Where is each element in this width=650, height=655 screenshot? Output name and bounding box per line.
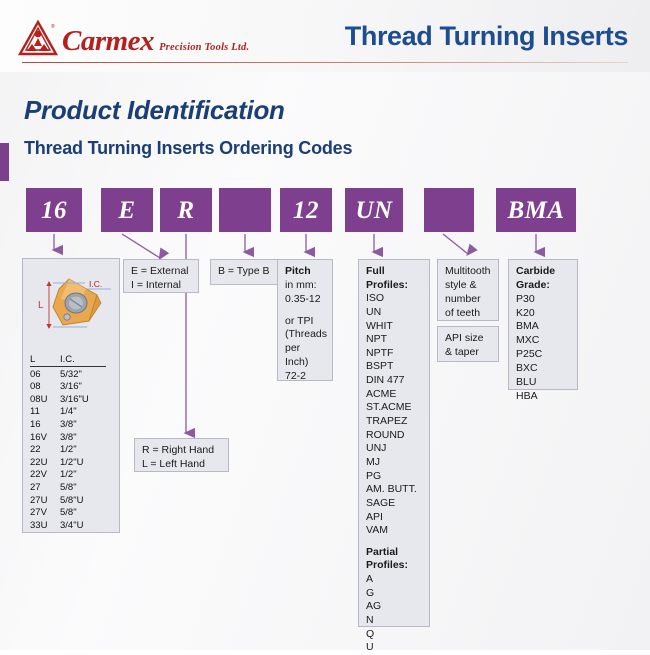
col-header-ic: I.C. [60,355,106,367]
header-divider [22,62,628,63]
cell-ic: 5/8" [60,508,112,518]
grade-item: HBA [516,390,570,404]
profile-item: NPT [366,333,422,347]
cell-l: 27 [30,483,60,493]
table-row: 22U1/2"U [30,458,116,468]
code-box-direction[interactable] [219,188,271,232]
grade-item: BXC [516,362,570,376]
cell-ic: 1/2" [60,470,112,480]
insert-diagram: L I.C. [23,259,121,351]
size-table: L I.C. 065/32" 083/16" 08U3/16"U 111/4" … [30,355,116,530]
profile-item: TRAPEZ [366,415,422,429]
multitooth-line: style & [445,279,491,293]
right-hand-label: R = Right Hand [142,444,221,458]
partial-profile-item: AG [366,600,422,614]
code-box-size[interactable]: 16 [26,188,82,232]
code-box-multitooth[interactable] [424,188,474,232]
partial-profile-item: N [366,614,422,628]
table-row: 221/2" [30,445,116,455]
brand-name: Carmex [62,27,154,56]
table-row: 111/4" [30,407,116,417]
grade-title-2: Grade: [516,279,570,293]
cell-ic: 1/2" [60,445,112,455]
left-accent-tab [0,143,9,181]
pitch-range: 0.35-12 [285,293,325,307]
grade-item: K20 [516,307,570,321]
cell-l: 27V [30,508,60,518]
hand-direction-box: R = Right Hand L = Left Hand [134,438,229,472]
tpi-range: 72-2 [285,370,325,384]
pitch-box: Pitch in mm: 0.35-12 or TPI (Threads per… [277,259,333,381]
multitooth-box: Multitooth style & number of teeth [437,259,499,321]
code-box-grade[interactable]: BMA [496,188,576,232]
profile-item: WHIT [366,320,422,334]
partial-profiles-title-1: Partial [366,546,422,560]
cell-l: 22 [30,445,60,455]
grade-item: P25C [516,348,570,362]
cell-l: 33U [30,521,60,531]
grade-item: P30 [516,293,570,307]
api-line: & taper [445,346,491,360]
full-profiles-title-2: Profiles: [366,279,422,293]
profile-item: NPTF [366,347,422,361]
tpi-note-2: per Inch) [285,342,325,370]
cell-l: 22V [30,470,60,480]
page-subtitle: Thread Turning Inserts Ordering Codes [24,138,352,159]
profile-item: UN [366,306,422,320]
header-title: Thread Turning Inserts [345,21,628,52]
pitch-title: Pitch [285,265,325,279]
table-row: 16V3/8" [30,433,116,443]
partial-profile-item: G [366,587,422,601]
cell-ic: 3/8" [60,420,112,430]
code-box-type[interactable]: R [160,188,212,232]
tpi-label: or TPI [285,315,325,329]
cell-l: 27U [30,496,60,506]
api-line: API size [445,332,491,346]
pitch-spacer [285,307,325,315]
full-profiles-title-1: Full [366,265,422,279]
partial-profiles-title-2: Profiles: [366,559,422,573]
cell-ic: 3/16"U [60,395,112,405]
cell-ic: 3/16" [60,382,112,392]
multitooth-line: number [445,293,491,307]
svg-text:®: ® [51,23,55,30]
type-b-label: B = Type B [218,265,269,279]
multitooth-line: of teeth [445,307,491,321]
grade-item: BLU [516,376,570,390]
table-row: 22V1/2" [30,470,116,480]
brand-tagline: Precision Tools Ltd. [159,43,249,54]
profile-item: ACME [366,388,422,402]
cell-l: 16 [30,420,60,430]
pitch-unit: in mm: [285,279,325,293]
profile-item: MJ [366,456,422,470]
table-row: 08U3/16"U [30,395,116,405]
cell-ic: 5/8"U [60,496,112,506]
tpi-note-1: (Threads [285,328,325,342]
table-row: 065/32" [30,370,116,380]
insert-size-box: L I.C. L I.C. 065/32" 083/16" 08U3/16"U … [22,258,120,533]
profiles-spacer [366,538,422,546]
page-header: ® Carmex Precision Tools Ltd. Thread Tur… [0,0,650,72]
table-header: L I.C. [30,355,116,367]
profile-item: DIN 477 [366,374,422,388]
internal-label: I = Internal [131,279,191,293]
code-box-hand[interactable]: E [101,188,153,232]
cell-ic: 5/8" [60,483,112,493]
cell-l: 16V [30,433,60,443]
svg-text:I.C.: I.C. [89,279,102,289]
table-row: 275/8" [30,483,116,493]
company-logo: ® Carmex Precision Tools Ltd. [18,20,249,56]
table-row: 27V5/8" [30,508,116,518]
grade-title-1: Carbide [516,265,570,279]
cell-ic: 3/4"U [60,521,112,531]
cell-ic: 3/8" [60,433,112,443]
cell-ic: 5/32" [60,370,112,380]
profiles-box: Full Profiles: ISO UN WHIT NPT NPTF BSPT… [358,259,430,627]
cell-l: 06 [30,370,60,380]
table-row: 083/16" [30,382,116,392]
profile-item: BSPT [366,360,422,374]
hand-type-box: E = External I = Internal [123,259,199,293]
profile-item: SAGE [366,497,422,511]
cell-l: 08U [30,395,60,405]
col-header-l: L [30,355,60,367]
code-box-pitch[interactable]: 12 [280,188,332,232]
insert-type-box: B = Type B [210,259,280,285]
code-box-profile[interactable]: UN [345,188,403,232]
external-label: E = External [131,265,191,279]
profile-item: ROUND [366,429,422,443]
partial-profile-item: U [366,641,422,655]
profile-item: API [366,511,422,525]
partial-profile-item: Q [366,628,422,642]
grade-item: BMA [516,320,570,334]
api-size-box: API size & taper [437,326,499,362]
multitooth-line: Multitooth [445,265,491,279]
table-row: 27U5/8"U [30,496,116,506]
carmex-triangle-icon: ® [18,20,58,56]
profile-item: ISO [366,292,422,306]
partial-profile-item: A [366,573,422,587]
profile-item: UNJ [366,442,422,456]
left-hand-label: L = Left Hand [142,458,221,472]
cell-l: 11 [30,407,60,417]
profile-item: ST.ACME [366,401,422,415]
page-title: Product Identification [24,95,285,126]
table-row: 163/8" [30,420,116,430]
table-row: 33U3/4"U [30,521,116,531]
profile-item: VAM [366,524,422,538]
profile-item: AM. BUTT. [366,483,422,497]
carbide-grade-box: Carbide Grade: P30 K20 BMA MXC P25C BXC … [508,259,578,390]
grade-item: MXC [516,334,570,348]
cell-l: 22U [30,458,60,468]
svg-text:L: L [38,300,44,311]
cell-ic: 1/4" [60,407,112,417]
profile-item: PG [366,470,422,484]
cell-ic: 1/2"U [60,458,112,468]
cell-l: 08 [30,382,60,392]
